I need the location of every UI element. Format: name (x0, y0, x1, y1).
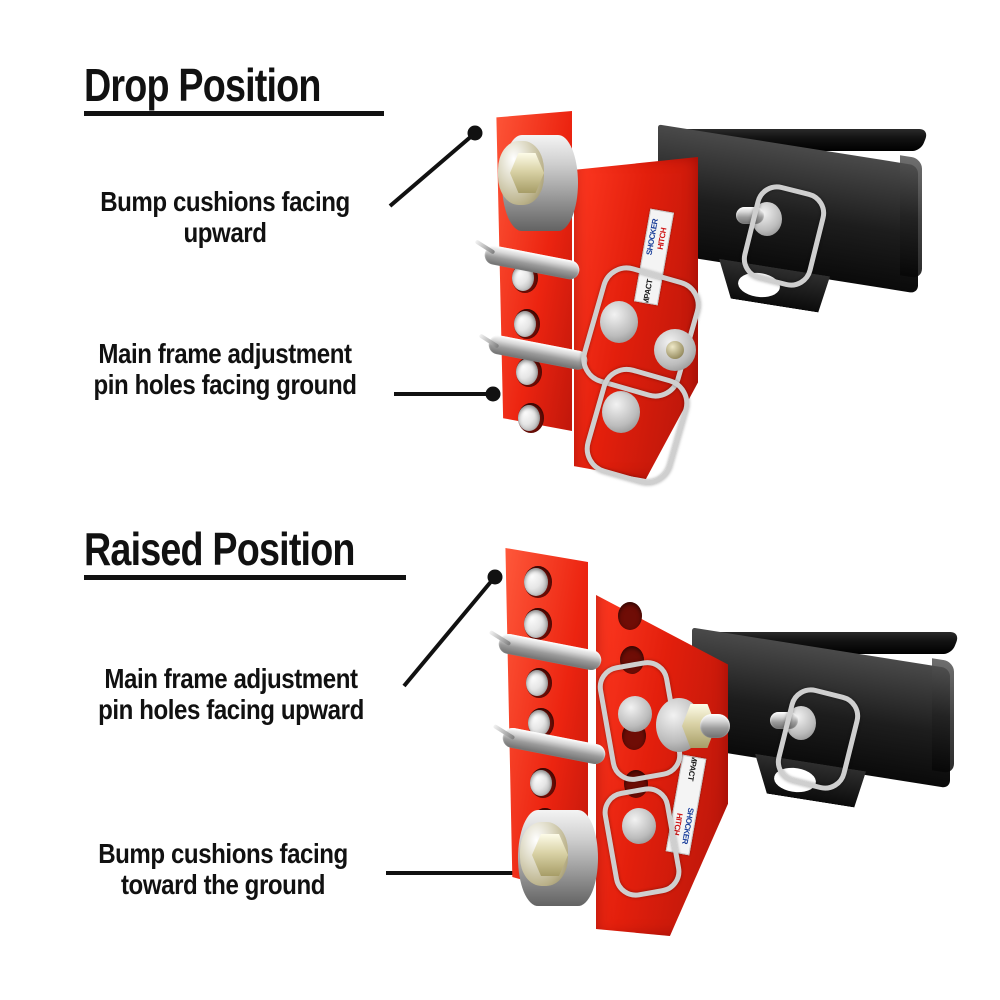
pivot-bolt-shank (700, 714, 730, 738)
adjustment-pin-hole-open (526, 670, 548, 696)
adjustment-pin-hole-open (516, 359, 538, 385)
sticker-model: IMPACT (687, 755, 700, 776)
adjustment-pin-hole-open (518, 405, 540, 431)
adjustment-pin-hole-open (530, 770, 552, 796)
adjustment-pin-hole-open (514, 311, 536, 337)
receiver-tube-end-cap (932, 658, 954, 773)
callout-line: Bump cushions facing (81, 838, 365, 869)
callout-line: Main frame adjustment (83, 338, 367, 369)
section-raised-position: Raised Position Main frame adjustment pi… (0, 500, 1000, 1000)
product-image-drop-position: SHOCKER HITCH IMPACT (460, 95, 1000, 495)
product-image-raised-position: SHOCKER HITCH IMPACT (460, 540, 1000, 960)
callout-pin-holes-up: Main frame adjustment pin holes facing u… (58, 663, 404, 726)
page-title-drop: Drop Position (84, 62, 321, 108)
callout-line: Main frame adjustment (82, 663, 380, 694)
adjustment-pin-hole-open (524, 568, 548, 596)
callout-line: pin holes facing upward (82, 694, 380, 725)
callout-bump-cushions-up: Bump cushions facing upward (60, 186, 390, 249)
callout-line: pin holes facing ground (83, 369, 367, 400)
receiver-tube-end-cap (900, 155, 922, 278)
adjustment-pin-hole-open (524, 610, 548, 638)
title-underline-raised (84, 575, 406, 580)
page-title-raised: Raised Position (84, 526, 355, 572)
title-underline-drop (84, 111, 384, 116)
callout-pin-holes-ground: Main frame adjustment pin holes facing g… (60, 338, 390, 401)
callout-bump-cushions-ground: Bump cushions facing toward the ground (58, 838, 388, 901)
callout-line: Bump cushions facing (83, 186, 367, 217)
front-plate-hole (618, 602, 642, 630)
callout-line: toward the ground (81, 869, 365, 900)
callout-line: upward (83, 217, 367, 248)
pivot-bolt-center (666, 341, 684, 359)
section-drop-position: Drop Position Bump cushions facing upwar… (0, 0, 1000, 500)
